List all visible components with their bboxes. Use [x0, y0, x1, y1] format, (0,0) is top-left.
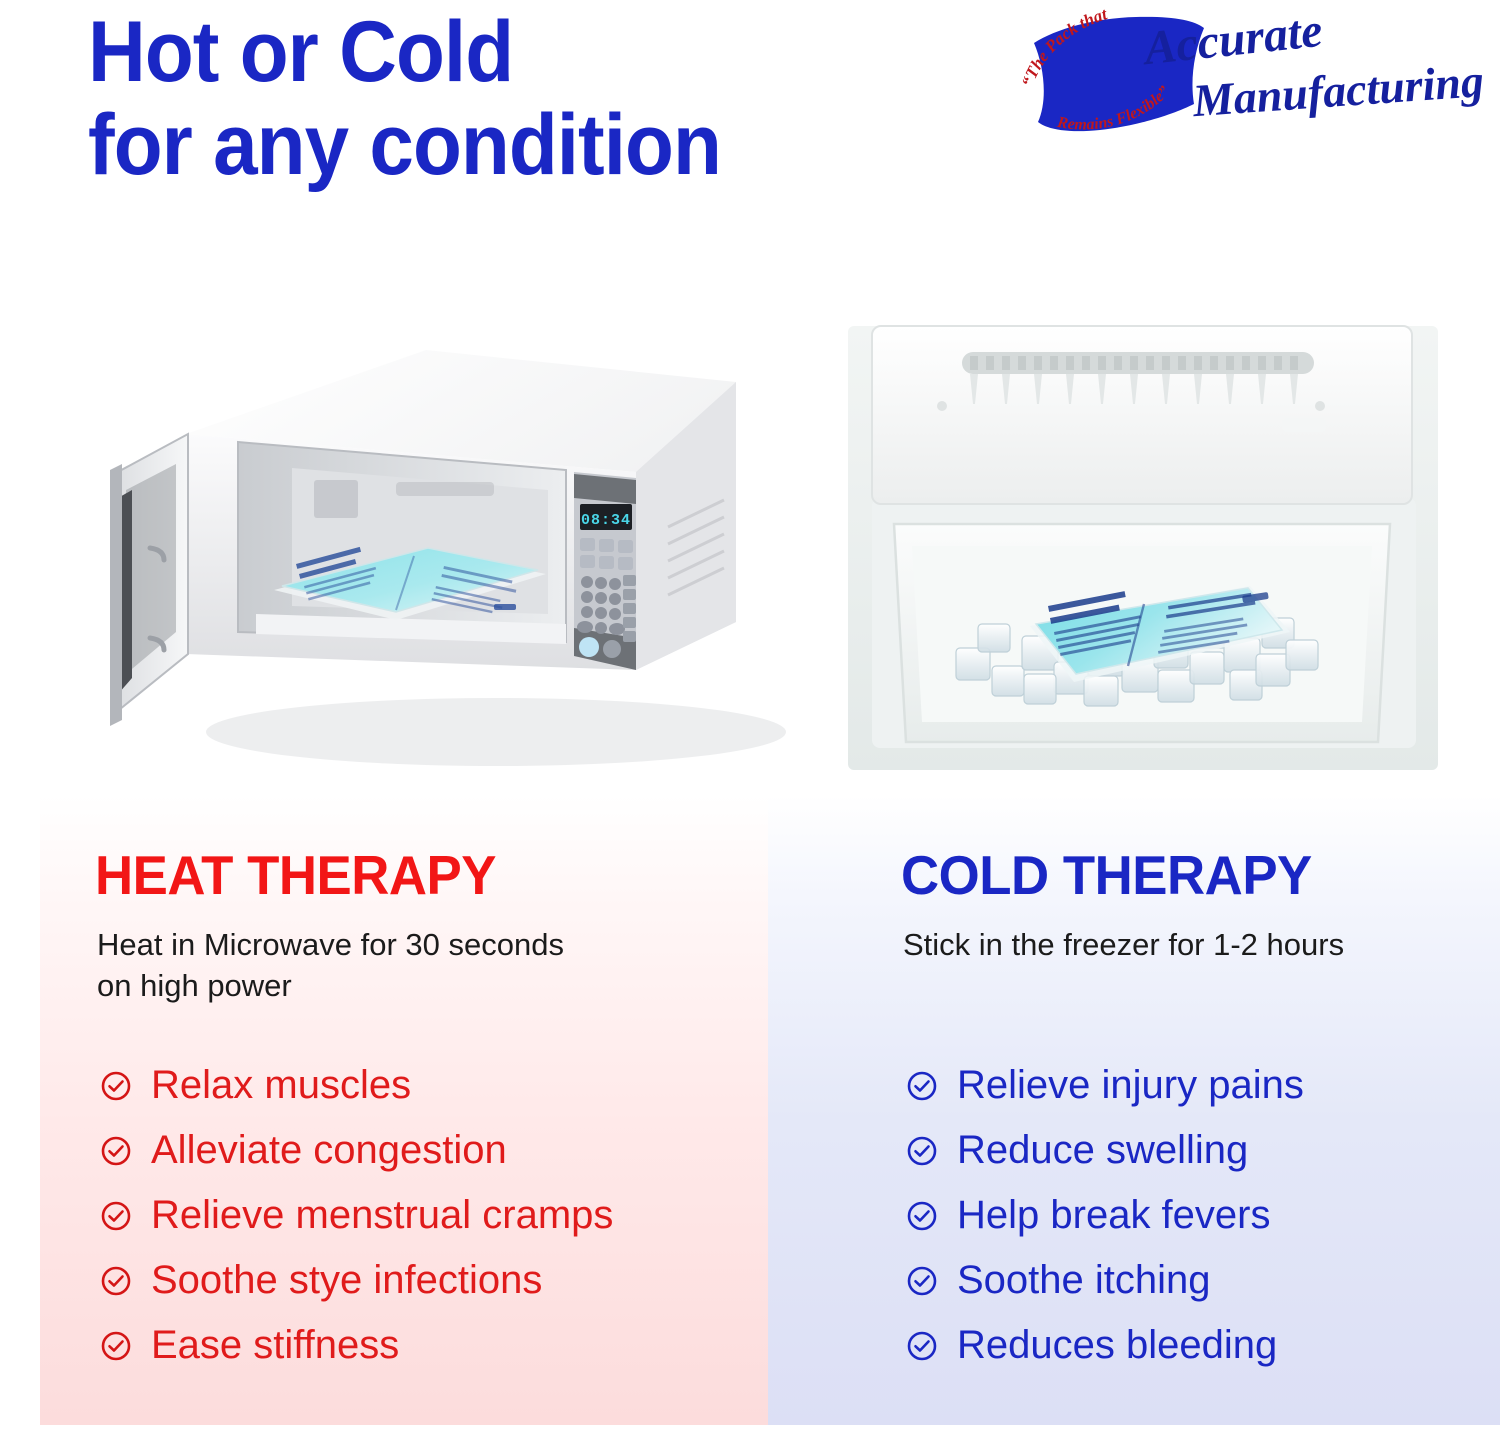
- microwave-shadow: [206, 698, 786, 766]
- freezer-photo: [838, 318, 1448, 778]
- list-item: Relieve injury pains: [906, 1053, 1304, 1118]
- benefit-label: Reduces bleeding: [957, 1323, 1277, 1368]
- door-screw-left: [937, 401, 947, 411]
- microwave-display-time: 08:34: [581, 512, 631, 529]
- benefit-label: Alleviate congestion: [151, 1128, 507, 1173]
- list-item: Help break fevers: [906, 1183, 1304, 1248]
- check-circle-icon: [906, 1070, 938, 1102]
- list-item: Soothe itching: [906, 1248, 1304, 1313]
- check-circle-icon: [906, 1135, 938, 1167]
- heat-benefits-list: Relax muscles Alleviate congestion: [100, 1053, 613, 1378]
- list-item: Reduce swelling: [906, 1118, 1304, 1183]
- therapy-panels: HEAT THERAPY Heat in Microwave for 30 se…: [0, 795, 1500, 1427]
- pause-cancel-button[interactable]: [603, 640, 621, 658]
- page-title: Hot or Cold for any condition: [88, 6, 721, 192]
- list-item: Soothe stye infections: [100, 1248, 613, 1313]
- heat-therapy-title: HEAT THERAPY: [95, 843, 496, 907]
- door-latch[interactable]: [1282, 418, 1326, 432]
- benefit-label: Reduce swelling: [957, 1128, 1248, 1173]
- heat-therapy-subtitle: Heat in Microwave for 30 seconds on high…: [97, 925, 564, 1007]
- promo-page: Hot or Cold for any condition “The Pack …: [0, 0, 1500, 1432]
- benefit-label: Help break fevers: [957, 1193, 1270, 1238]
- brand-logo: “The Pack that Remains Flexible” Accurat…: [1008, 8, 1494, 144]
- start-button[interactable]: [579, 637, 599, 657]
- check-circle-icon: [100, 1200, 132, 1232]
- benefit-label: Ease stiffness: [151, 1323, 399, 1368]
- benefit-label: Soothe stye infections: [151, 1258, 542, 1303]
- door-hinge-edge: [110, 464, 122, 726]
- product-photos: 08:34: [0, 300, 1500, 800]
- door-screw-right: [1315, 401, 1325, 411]
- freezer-door-panel[interactable]: [872, 326, 1412, 504]
- check-circle-icon: [100, 1135, 132, 1167]
- check-circle-icon: [100, 1330, 132, 1362]
- list-item: Reduces bleeding: [906, 1313, 1304, 1378]
- benefit-label: Relieve injury pains: [957, 1063, 1304, 1108]
- microwave-function-buttons[interactable]: [623, 575, 636, 642]
- cold-therapy-title: COLD THERAPY: [901, 843, 1312, 907]
- check-circle-icon: [906, 1330, 938, 1362]
- check-circle-icon: [100, 1070, 132, 1102]
- list-item: Relieve menstrual cramps: [100, 1183, 613, 1248]
- cold-benefits-list: Relieve injury pains Reduce swelling: [906, 1053, 1304, 1378]
- check-circle-icon: [906, 1265, 938, 1297]
- microwave-photo: 08:34: [96, 322, 796, 792]
- check-circle-icon: [100, 1265, 132, 1297]
- microwave-control-panel[interactable]: 08:34: [574, 472, 636, 670]
- cold-therapy-panel: COLD THERAPY Stick in the freezer for 1-…: [768, 795, 1500, 1425]
- heat-therapy-panel: HEAT THERAPY Heat in Microwave for 30 se…: [40, 795, 768, 1425]
- benefit-label: Relax muscles: [151, 1063, 411, 1108]
- cold-therapy-subtitle: Stick in the freezer for 1-2 hours: [903, 925, 1344, 966]
- freezer-vent-teeth: [970, 356, 1298, 370]
- benefit-label: Relieve menstrual cramps: [151, 1193, 613, 1238]
- microwave-door[interactable]: [110, 434, 188, 726]
- list-item: Relax muscles: [100, 1053, 613, 1118]
- list-item: Alleviate congestion: [100, 1118, 613, 1183]
- benefit-label: Soothe itching: [957, 1258, 1211, 1303]
- list-item: Ease stiffness: [100, 1313, 613, 1378]
- check-circle-icon: [906, 1200, 938, 1232]
